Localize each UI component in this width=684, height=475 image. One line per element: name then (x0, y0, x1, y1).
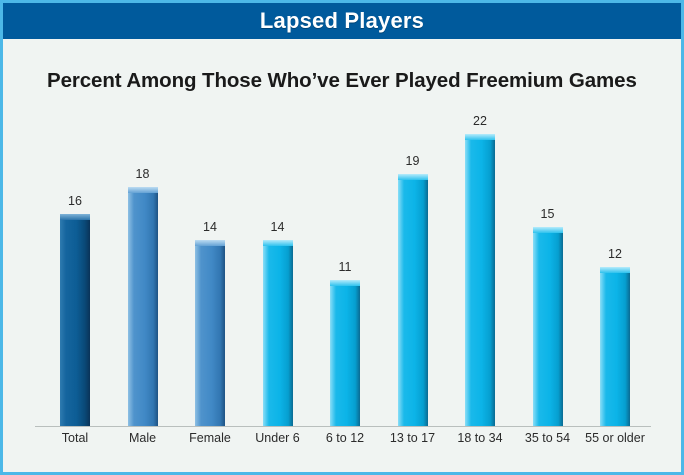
bar-55-or-older: 12 (581, 96, 649, 426)
x-tick-label: Female (189, 431, 231, 445)
bar-rect (60, 214, 90, 426)
bar-35-to-54: 15 (514, 96, 582, 426)
bar-column (398, 174, 428, 426)
x-tick-label: 6 to 12 (326, 431, 364, 445)
bar-top-cap (398, 174, 428, 180)
bar-column (465, 134, 495, 426)
bar-male: 18 (109, 96, 177, 426)
bar-column (330, 280, 360, 426)
bar-value-label: 18 (136, 167, 150, 181)
bar-column (263, 240, 293, 426)
bar-top-cap (330, 280, 360, 286)
chart-card: Lapsed Players Percent Among Those Who’v… (0, 0, 684, 475)
bar-rect (600, 267, 630, 426)
bar-top-cap (60, 214, 90, 220)
bar-13-to-17: 19 (379, 96, 447, 426)
bar-top-cap (465, 134, 495, 140)
bar-under-6: 14 (244, 96, 312, 426)
bar-value-label: 15 (541, 207, 555, 221)
bar-top-cap (533, 227, 563, 233)
bar-column (195, 240, 225, 426)
x-tick-label: 35 to 54 (525, 431, 570, 445)
bar-column (533, 227, 563, 426)
bar-top-cap (128, 187, 158, 193)
bar-value-label: 12 (608, 247, 622, 261)
bar-6-to-12: 11 (311, 96, 379, 426)
x-tick-label: 55 or older (585, 431, 645, 445)
bar-value-label: 19 (406, 154, 420, 168)
bar-value-label: 11 (339, 260, 352, 274)
bar-rect (533, 227, 563, 426)
bar-value-label: 16 (68, 194, 82, 208)
bar-rect (263, 240, 293, 426)
bar-female: 14 (176, 96, 244, 426)
bar-value-label: 14 (203, 220, 217, 234)
bar-value-label: 14 (271, 220, 285, 234)
bar-column (600, 267, 630, 426)
bar-rect (330, 280, 360, 426)
x-tick-label: 13 to 17 (390, 431, 435, 445)
bar-top-cap (263, 240, 293, 246)
x-tick-label: Male (129, 431, 156, 445)
bar-rect (465, 134, 495, 426)
bar-total: 16 (41, 96, 109, 426)
bar-value-label: 22 (473, 114, 487, 128)
bar-column (128, 187, 158, 426)
bar-chart-plot: 161814141119221512 TotalMaleFemaleUnder … (3, 3, 681, 472)
bar-top-cap (600, 267, 630, 273)
bar-column (60, 214, 90, 426)
bar-rect (128, 187, 158, 426)
x-tick-label: Under 6 (255, 431, 299, 445)
x-tick-label: 18 to 34 (457, 431, 502, 445)
bar-18-to-34: 22 (446, 96, 514, 426)
x-tick-label: Total (62, 431, 88, 445)
bar-rect (195, 240, 225, 426)
bar-rect (398, 174, 428, 426)
bar-top-cap (195, 240, 225, 246)
x-axis-line (35, 426, 651, 427)
